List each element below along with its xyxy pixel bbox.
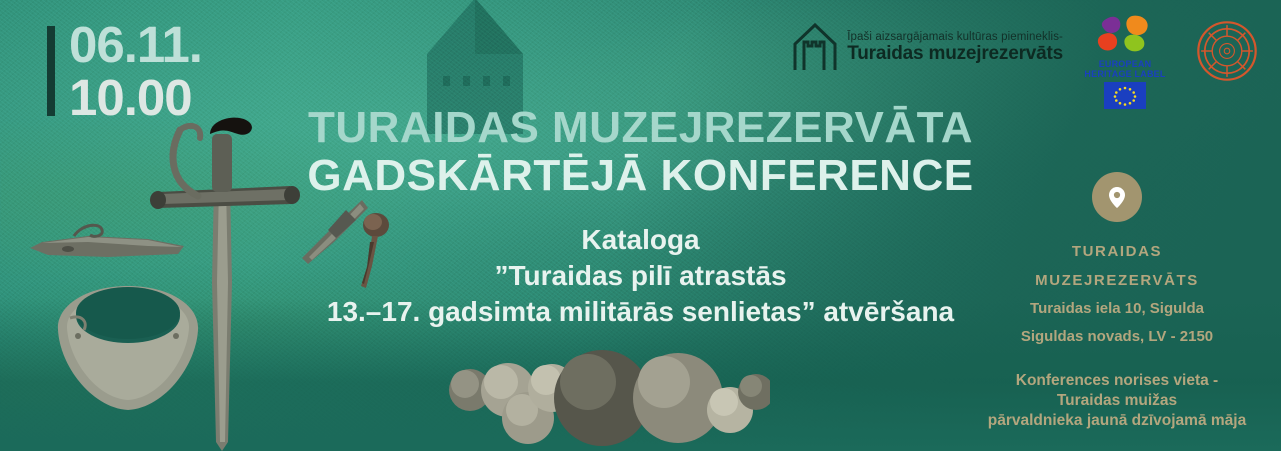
ehl-line-1: EUROPEAN — [1079, 59, 1171, 69]
european-heritage-label-logo: EUROPEAN HERITAGE LABEL — [1079, 8, 1171, 114]
museum-logo: Īpaši aizsargājamais kultūras pieminekli… — [792, 8, 1063, 72]
subtitle-block: Kataloga ”Turaidas pilī atrastās 13.–17.… — [271, 222, 1011, 329]
emya-spiral-icon — [1187, 8, 1267, 88]
venue-note-line-2: Turaidas muižas — [967, 391, 1267, 411]
stone-cannonballs-artifact — [440, 348, 770, 448]
event-date: 06.11. — [69, 22, 202, 69]
heritage-petals-icon — [1094, 14, 1156, 54]
venue-note: Konferences norises vieta - Turaidas mui… — [967, 371, 1267, 432]
venue-note-line-3: pārvaldnieka jaunā dzīvojamā māja — [967, 411, 1267, 431]
headline-line-2: GADSKĀRTĒJĀ KONFERENCE — [281, 153, 1001, 199]
venue-block: TURAIDAS MUZEJREZERVĀTS Turaidas iela 10… — [967, 172, 1267, 432]
subtitle-line-3: 13.–17. gadsimta militārās senlietas” at… — [271, 294, 1011, 330]
eu-flag-icon — [1104, 82, 1146, 109]
venue-address-line-2: Siguldas novads, LV - 2150 — [967, 323, 1267, 351]
date-accent-rule — [47, 26, 55, 116]
venue-name-line-2: MUZEJREZERVĀTS — [967, 267, 1267, 296]
castle-house-icon — [792, 22, 838, 72]
venue-address-line-1: Turaidas iela 10, Sigulda — [967, 295, 1267, 323]
event-time: 10.00 — [69, 75, 202, 122]
venue-name-line-1: TURAIDAS — [967, 238, 1267, 267]
page-title: TURAIDAS MUZEJREZERVĀTA GADSKĀRTĒJĀ KONF… — [281, 105, 1001, 199]
logo-row: Īpaši aizsargājamais kultūras pieminekli… — [792, 8, 1267, 114]
gorget-neck-armour-artifact — [48, 280, 208, 415]
ehl-line-2: HERITAGE LABEL — [1079, 69, 1171, 79]
headline-line-1: TURAIDAS MUZEJREZERVĀTA — [281, 105, 1001, 151]
museum-logo-tagline: Īpaši aizsargājamais kultūras pieminekli… — [847, 31, 1063, 43]
event-date-block: 06.11. 10.00 — [47, 22, 202, 122]
venue-note-line-1: Konferences norises vieta - — [967, 371, 1267, 391]
conference-poster-banner: 06.11. 10.00 Īpaši aizsargājamais kultūr… — [0, 0, 1281, 451]
map-pin-icon — [1105, 185, 1129, 209]
subtitle-line-1: Kataloga — [271, 222, 1011, 258]
map-pin-badge — [1092, 172, 1142, 222]
subtitle-line-2: ”Turaidas pilī atrastās — [271, 258, 1011, 294]
museum-logo-name: Turaidas muzejrezervāts — [847, 44, 1063, 64]
